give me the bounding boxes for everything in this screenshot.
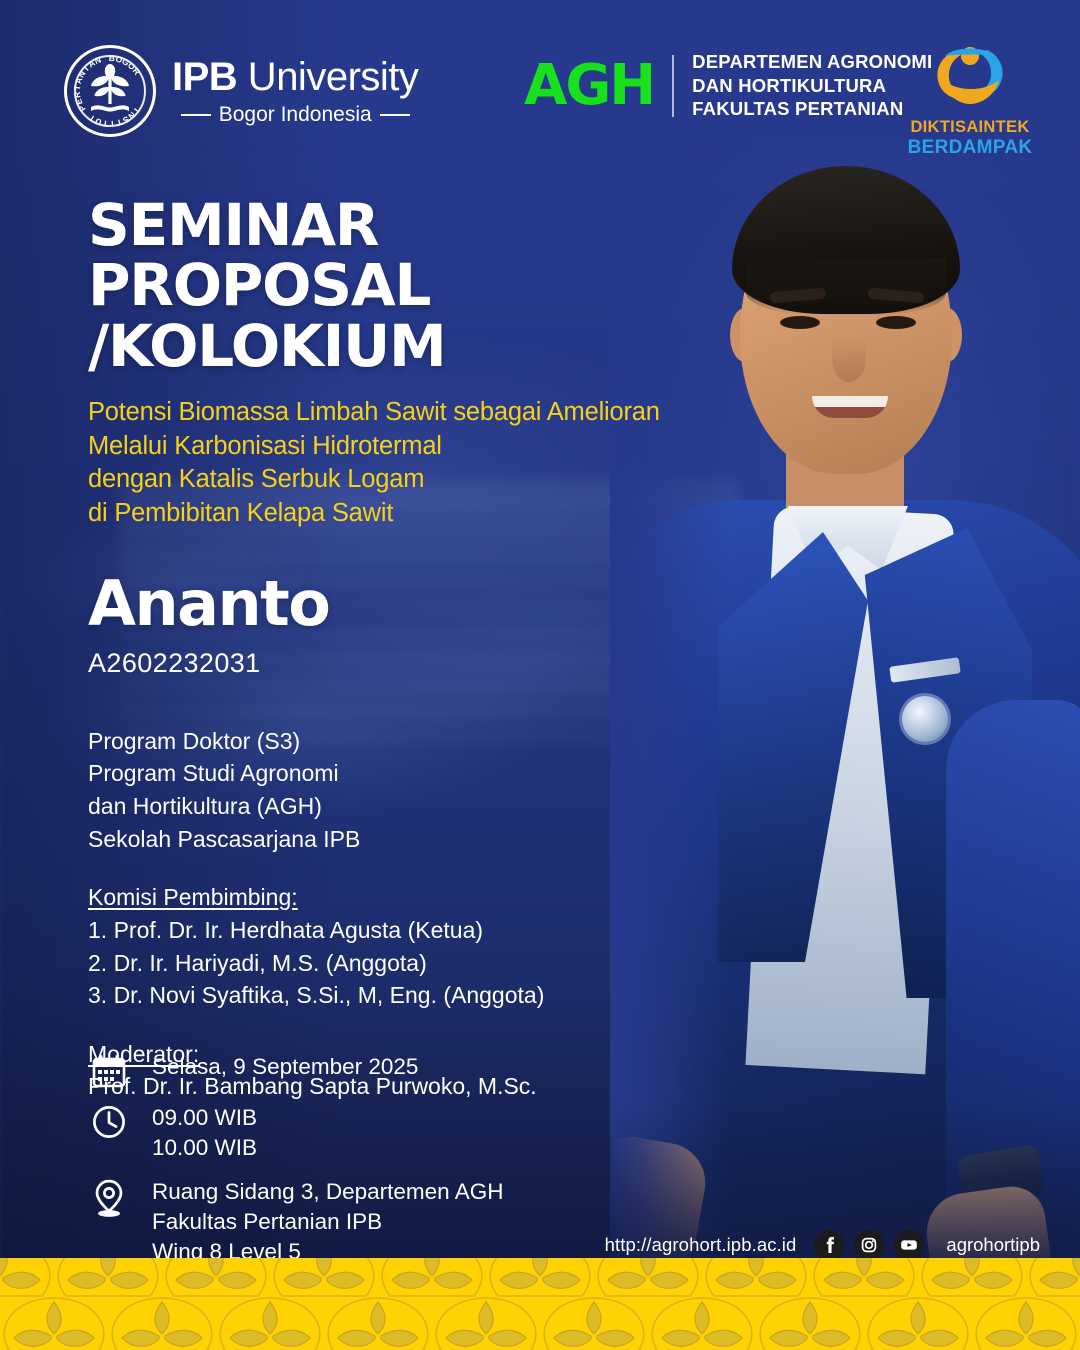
portrait-ipb-badge <box>902 696 948 742</box>
ipb-wordmark: IPB University Bogor Indonesia <box>172 57 418 125</box>
poster-header: INSTITUTPERTANIANBOGOR IPB University Bo… <box>0 0 1080 160</box>
ipb-seal-icon: INSTITUTPERTANIANBOGOR <box>64 45 156 137</box>
agh-line-1: DEPARTEMEN AGRONOMI <box>692 50 932 74</box>
location-pin-icon <box>88 1175 130 1218</box>
ipb-tagline-dash-left <box>181 114 211 116</box>
research-title-line-1: Potensi Biomassa Limbah Sawit sebagai Am… <box>88 396 728 430</box>
event-time: 09.00 WIB 10.00 WIB <box>152 1101 257 1163</box>
program-info: Program Doktor (S3) Program Studi Agrono… <box>88 725 728 856</box>
seminar-title-line-1: SEMINAR PROPOSAL <box>88 195 728 316</box>
venue-line-1: Ruang Sidang 3, Departemen AGH <box>152 1177 503 1207</box>
ipb-seal-ring-text: INSTITUTPERTANIANBOGOR <box>67 48 153 134</box>
diktisaintek-mark-icon <box>923 40 1017 116</box>
seminar-title: SEMINAR PROPOSAL /KOLOKIUM <box>88 195 728 376</box>
student-id: A2602232031 <box>88 648 728 679</box>
portrait-eye-left <box>780 316 820 329</box>
youtube-icon[interactable] <box>894 1230 924 1260</box>
program-line-2: Program Studi Agronomi <box>88 757 728 790</box>
ipb-name-rest: University <box>237 55 418 99</box>
ipb-name: IPB University <box>172 57 418 97</box>
agh-divider <box>672 55 674 117</box>
agh-line-3: FAKULTAS PERTANIAN <box>692 97 932 121</box>
event-date-row: Selasa, 9 September 2025 <box>88 1050 648 1089</box>
program-line-1: Program Doktor (S3) <box>88 725 728 758</box>
research-title: Potensi Biomassa Limbah Sawit sebagai Am… <box>88 396 728 531</box>
event-date: Selasa, 9 September 2025 <box>152 1050 418 1082</box>
agh-department-logo: AGH DEPARTEMEN AGRONOMI DAN HORTIKULTURA… <box>524 50 932 121</box>
ipb-tagline-dash-right <box>380 114 410 116</box>
diktisaintek-logo: DIKTISAINTEK BERDAMPAK <box>900 40 1040 159</box>
committee-heading: Komisi Pembimbing: <box>88 881 728 914</box>
seminar-title-line-2: /KOLOKIUM <box>88 316 728 376</box>
agh-mark: AGH <box>524 58 654 114</box>
program-line-4: Sekolah Pascasarjana IPB <box>88 823 728 856</box>
batik-motif-pattern <box>0 1258 1080 1350</box>
instagram-icon[interactable] <box>854 1230 884 1260</box>
social-handle: agrohortipb <box>946 1234 1040 1256</box>
website-url[interactable]: http://agrohort.ipb.ac.id <box>605 1234 797 1256</box>
calendar-icon <box>88 1050 130 1089</box>
committee-member-1: 1. Prof. Dr. Ir. Herdhata Agusta (Ketua) <box>88 914 728 947</box>
program-line-3: dan Hortikultura (AGH) <box>88 790 728 823</box>
facebook-icon[interactable] <box>814 1230 844 1260</box>
event-time-row: 09.00 WIB 10.00 WIB <box>88 1101 648 1163</box>
research-title-line-3: dengan Katalis Serbuk Logam <box>88 463 728 497</box>
event-time-end: 10.00 WIB <box>152 1133 257 1163</box>
seminar-poster: INSTITUTPERTANIANBOGOR IPB University Bo… <box>0 0 1080 1350</box>
ipb-tagline: Bogor Indonesia <box>219 104 372 125</box>
poster-main-content: SEMINAR PROPOSAL /KOLOKIUM Potensi Bioma… <box>88 195 728 1103</box>
research-title-line-4: di Pembibitan Kelapa Sawit <box>88 497 728 531</box>
diktisaintek-line-1: DIKTISAINTEK <box>900 118 1040 137</box>
social-links <box>814 1230 924 1260</box>
committee-member-2: 2. Dr. Ir. Hariyadi, M.S. (Anggota) <box>88 947 728 980</box>
diktisaintek-line-2: BERDAMPAK <box>900 137 1040 159</box>
committee-member-3: 3. Dr. Novi Syaftika, S.Si., M, Eng. (An… <box>88 979 728 1012</box>
clock-icon <box>88 1101 130 1140</box>
ipb-tagline-row: Bogor Indonesia <box>172 104 418 125</box>
event-time-start: 09.00 WIB <box>152 1103 257 1133</box>
agh-department-text: DEPARTEMEN AGRONOMI DAN HORTIKULTURA FAK… <box>692 50 932 121</box>
student-name: Ananto <box>88 573 728 635</box>
portrait-nose <box>832 336 866 382</box>
portrait-eye-right <box>876 316 916 329</box>
supervisory-committee: Komisi Pembimbing: 1. Prof. Dr. Ir. Herd… <box>88 881 728 1012</box>
research-title-line-2: Melalui Karbonisasi Hidrotermal <box>88 430 728 464</box>
agh-line-2: DAN HORTIKULTURA <box>692 74 932 98</box>
batik-border <box>0 1258 1080 1350</box>
ipb-university-logo: INSTITUTPERTANIANBOGOR IPB University Bo… <box>64 45 418 137</box>
portrait-mouth <box>812 396 888 418</box>
ipb-name-bold: IPB <box>172 55 237 99</box>
